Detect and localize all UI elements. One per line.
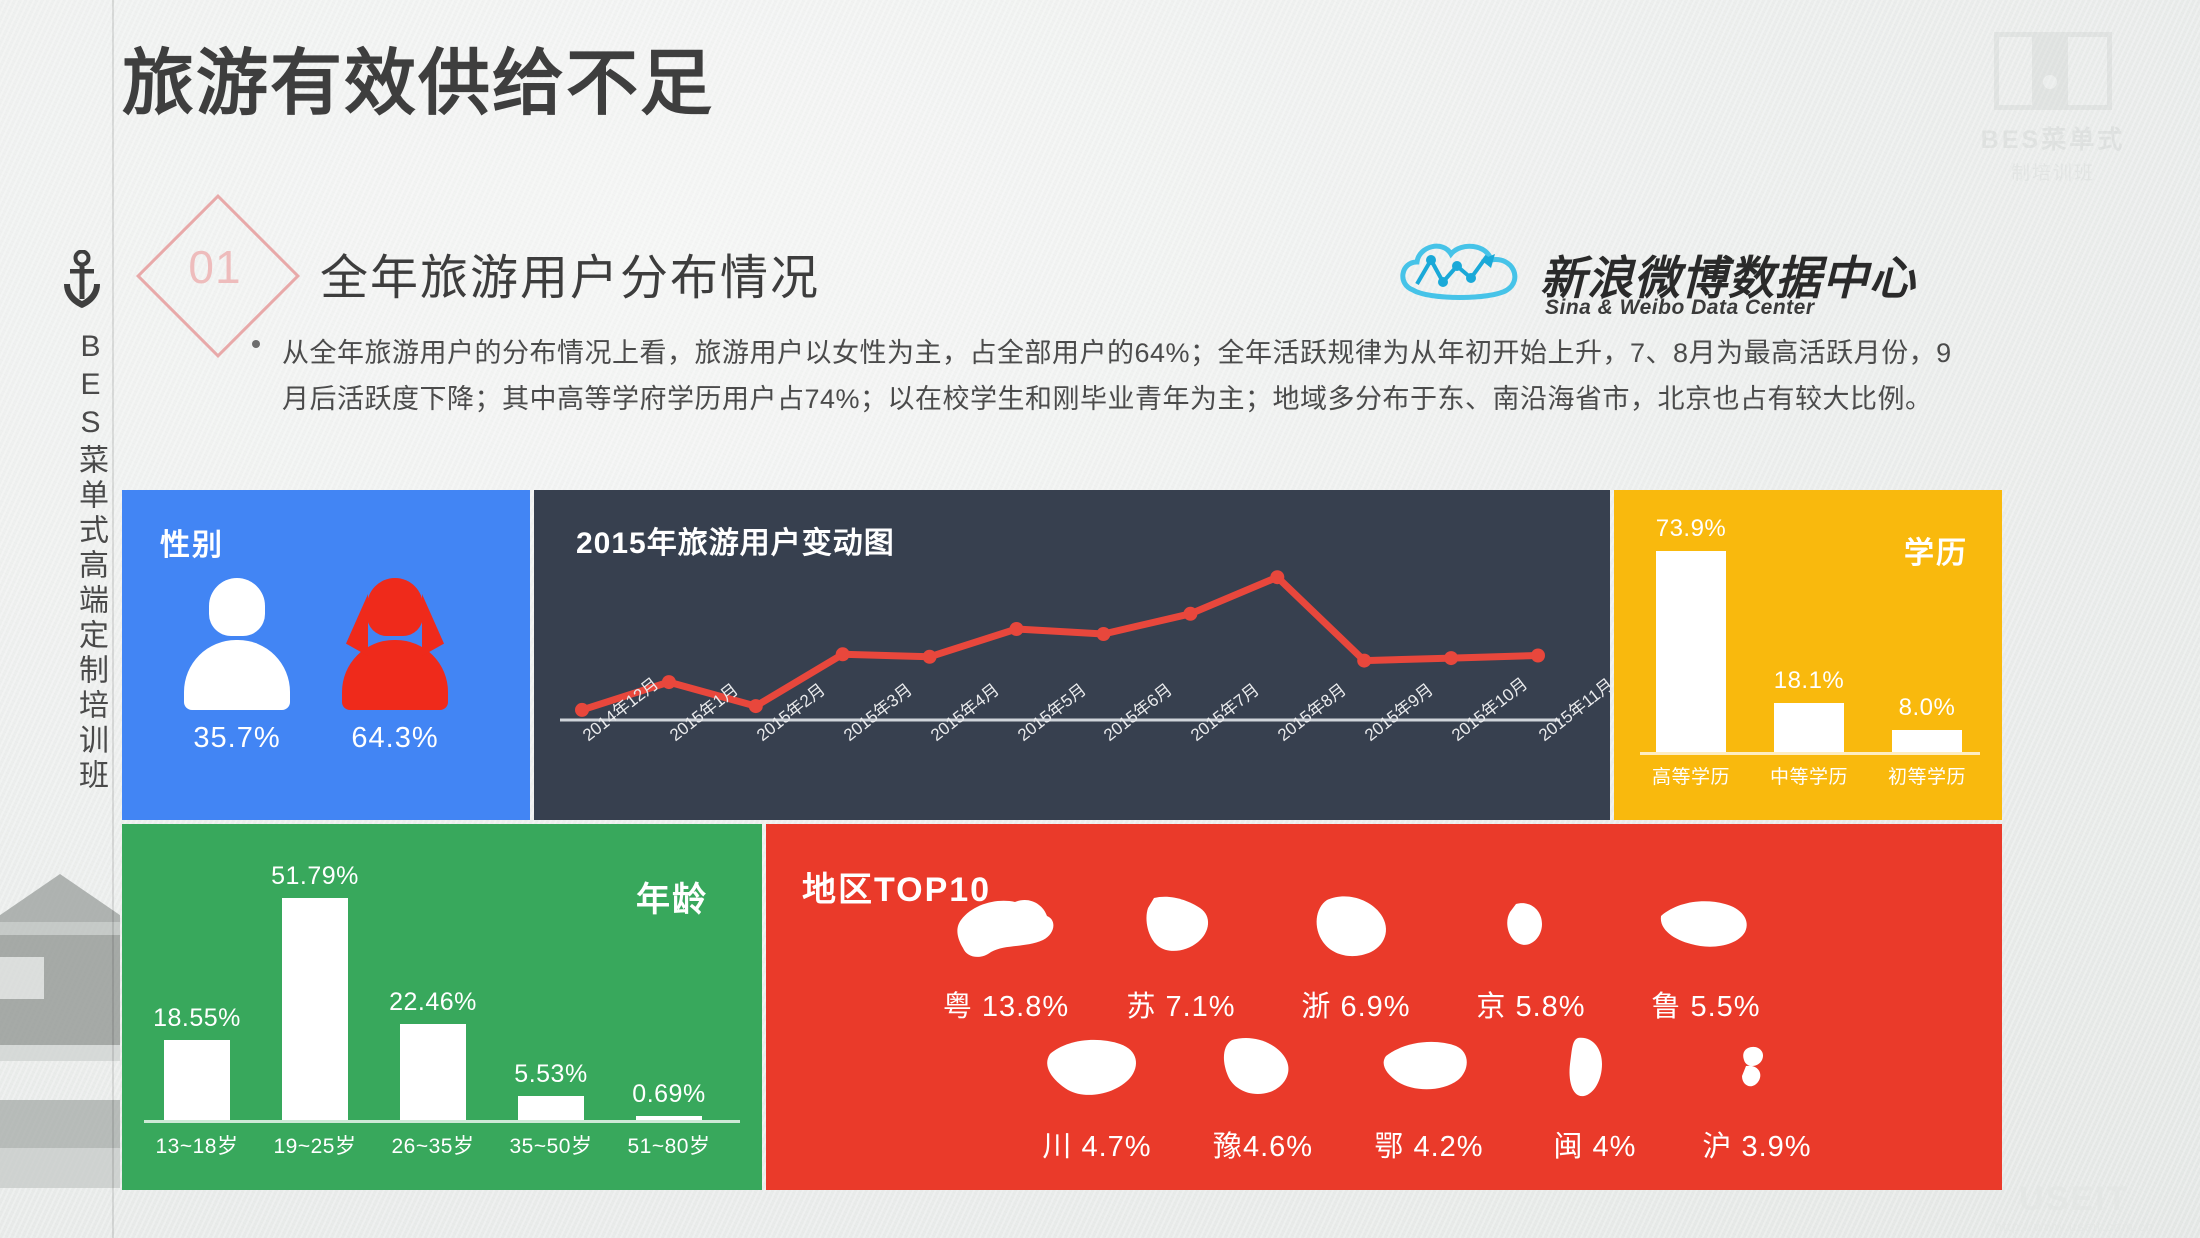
bar-value-label: 8.0% — [1861, 694, 1994, 722]
line-data-point — [1444, 651, 1458, 665]
brand-watermark-top-right: BES菜单式 制培训班 — [1958, 32, 2148, 185]
bar-value-label: 73.9% — [1625, 515, 1758, 543]
left-divider-rule — [112, 0, 114, 1238]
region-label: 粤 13.8% — [921, 983, 1091, 1025]
bar-category-label: 13~18岁 — [134, 1130, 259, 1160]
sina-logo-en: Sina & Weibo Data Center — [1545, 296, 1815, 320]
province-map-icon — [1042, 1020, 1152, 1112]
bar-category-label: 高等学历 — [1625, 762, 1758, 789]
region-label: 鲁 5.5% — [1621, 983, 1791, 1025]
female-percent: 64.3% — [340, 722, 450, 755]
bar-category-label: 51~80岁 — [606, 1130, 731, 1160]
line-data-point — [749, 699, 763, 713]
province-map-icon — [1126, 880, 1236, 972]
section-number: 01 — [165, 240, 265, 294]
section-paragraph: 从全年旅游用户的分布情况上看，旅游用户以女性为主，占全部用户的64%；全年活跃规… — [252, 330, 1952, 423]
slide-canvas: BES菜单式高端定制培训班 旅游有效供给不足 BES菜单式 制培训班 01 全年… — [0, 0, 2200, 1238]
bar-category-label: 初等学历 — [1861, 762, 1994, 789]
region-label: 浙 6.9% — [1271, 983, 1441, 1025]
bar-category-label: 26~35岁 — [370, 1130, 495, 1160]
province-map-icon — [1651, 880, 1761, 972]
region-item: 鄂 4.2% — [1344, 1020, 1514, 1165]
bar-category-label: 35~50岁 — [488, 1130, 613, 1160]
useit-watermark: USEIT http://www.useit.com.cn — [1994, 1180, 2154, 1234]
decorative-photo-watermark — [0, 860, 120, 1238]
line-data-point — [662, 675, 676, 689]
bar-category-label: 19~25岁 — [252, 1130, 377, 1160]
region-item: 川 4.7% — [1012, 1020, 1182, 1165]
useit-watermark-line2: http://www.useit.com.cn — [1994, 1219, 2154, 1234]
region-label: 沪 3.9% — [1672, 1123, 1842, 1165]
bar — [400, 1024, 466, 1120]
bar — [1892, 730, 1962, 752]
province-map-icon — [1374, 1020, 1484, 1112]
gender-figures: 35.7% 64.3% — [122, 578, 530, 778]
region-item: 粤 13.8% — [921, 880, 1091, 1025]
line-data-point — [1097, 627, 1111, 641]
panel-gender: 性别 35.7% 64.3% — [122, 490, 530, 820]
bar-value-label: 0.69% — [606, 1080, 731, 1109]
region-item: 沪 3.9% — [1672, 1020, 1842, 1165]
region-item: 豫4.6% — [1178, 1020, 1348, 1165]
female-silhouette-icon: 64.3% — [340, 578, 450, 755]
region-label: 闽 4% — [1510, 1123, 1680, 1165]
sina-cloud-chart-icon — [1395, 238, 1535, 326]
line-data-point — [836, 647, 850, 661]
region-item: 鲁 5.5% — [1621, 880, 1791, 1025]
bar-category-label: 中等学历 — [1743, 762, 1876, 789]
male-percent: 35.7% — [182, 722, 292, 755]
panel-region: 地区TOP10 粤 13.8%苏 7.1%浙 6.9%京 5.8%鲁 5.5%川… — [766, 824, 2002, 1190]
panel-education-title: 学历 — [1904, 528, 1968, 572]
bar — [164, 1040, 230, 1120]
region-label: 京 5.8% — [1446, 983, 1616, 1025]
region-label: 豫4.6% — [1178, 1123, 1348, 1165]
paragraph-text: 从全年旅游用户的分布情况上看，旅游用户以女性为主，占全部用户的64%；全年活跃规… — [282, 330, 1952, 423]
bar-value-label: 18.1% — [1743, 667, 1876, 695]
region-item: 闽 4% — [1510, 1020, 1680, 1165]
region-item: 苏 7.1% — [1096, 880, 1266, 1025]
anchor-icon — [58, 250, 106, 312]
bar-value-label: 51.79% — [252, 862, 377, 891]
bes-logo-icon — [1994, 32, 2112, 110]
infographic-panels: 性别 35.7% 64.3% 2015年旅游用户变动图 — [122, 490, 2002, 1190]
province-map-icon — [951, 880, 1061, 972]
bar — [282, 898, 348, 1120]
vertical-brand-label: BES菜单式高端定制培训班 — [60, 330, 106, 794]
line-data-point — [1183, 607, 1197, 621]
sina-weibo-data-center-logo: 新浪微博数据中心 Sina & Weibo Data Center — [1395, 238, 1955, 330]
province-map-icon — [1702, 1020, 1812, 1112]
bar — [1656, 551, 1726, 752]
bullet-icon — [252, 340, 260, 348]
page-title: 旅游有效供给不足 — [122, 24, 714, 129]
section-heading: 全年旅游用户分布情况 — [320, 238, 820, 308]
panel-user-trend: 2015年旅游用户变动图 2014年12月2015年1月2015年2月2015年… — [534, 490, 1610, 820]
line-data-point — [923, 650, 937, 664]
panel-age: 年龄 18.55%51.79%22.46%5.53%0.69% 13~18岁19… — [122, 824, 762, 1190]
province-map-icon — [1540, 1020, 1650, 1112]
bar — [1774, 703, 1844, 752]
province-map-icon — [1476, 880, 1586, 972]
line-data-point — [1357, 654, 1371, 668]
watermark-line-2: 制培训班 — [1958, 158, 2148, 185]
bar — [636, 1116, 702, 1120]
watermark-line-1: BES菜单式 — [1958, 120, 2148, 156]
male-silhouette-icon: 35.7% — [182, 578, 292, 755]
line-data-point — [1531, 649, 1545, 663]
region-label: 鄂 4.2% — [1344, 1123, 1514, 1165]
panel-education: 学历 73.9%18.1%8.0% 高等学历中等学历初等学历 — [1614, 490, 2002, 820]
line-data-point — [1010, 622, 1024, 636]
bar-value-label: 22.46% — [370, 988, 495, 1017]
province-map-icon — [1301, 880, 1411, 972]
region-item: 京 5.8% — [1446, 880, 1616, 1025]
bar-value-label: 18.55% — [134, 1004, 259, 1033]
panel-age-title: 年龄 — [636, 872, 708, 921]
bar-value-label: 5.53% — [488, 1060, 613, 1089]
region-label: 川 4.7% — [1012, 1123, 1182, 1165]
line-data-point — [575, 703, 589, 717]
region-label: 苏 7.1% — [1096, 983, 1266, 1025]
bar — [518, 1096, 584, 1120]
panel-gender-title: 性别 — [160, 520, 224, 564]
region-item: 浙 6.9% — [1271, 880, 1441, 1025]
useit-watermark-line1: USEIT — [1994, 1180, 2154, 1219]
province-map-icon — [1208, 1020, 1318, 1112]
line-chart-x-labels: 2014年12月2015年1月2015年2月2015年3月2015年4月2015… — [560, 722, 1584, 818]
line-data-point — [1270, 570, 1284, 584]
